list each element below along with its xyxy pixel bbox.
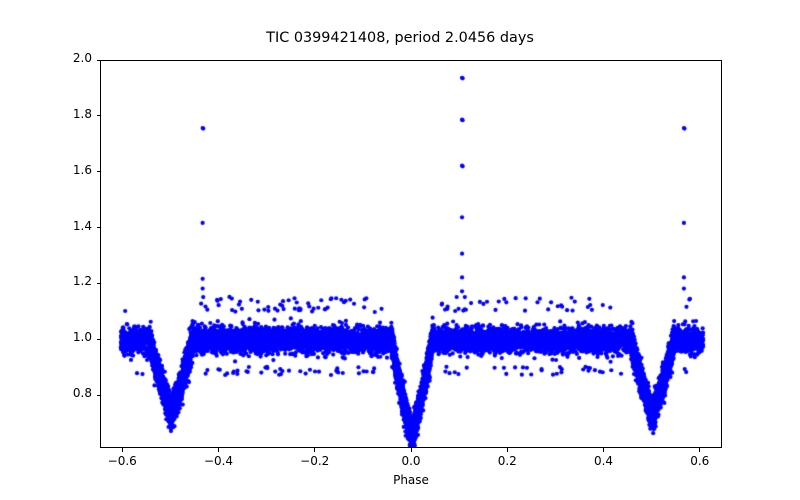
y-tick-label: 1.4 <box>52 219 92 233</box>
scatter-points-layer <box>101 61 722 448</box>
y-tick-label: 0.8 <box>52 386 92 400</box>
x-tick-mark <box>411 448 412 452</box>
x-tick-mark <box>122 448 123 452</box>
x-tick-label: −0.4 <box>178 454 258 468</box>
y-tick-label: 2.0 <box>52 51 92 65</box>
plot-title: TIC 0399421408, period 2.0456 days <box>0 30 800 46</box>
x-axis-label: Phase <box>100 473 722 487</box>
y-tick-mark <box>97 395 101 396</box>
x-tick-mark <box>699 448 700 452</box>
y-tick-mark <box>97 339 101 340</box>
y-tick-mark <box>97 171 101 172</box>
x-tick-mark <box>507 448 508 452</box>
plot-axes <box>100 60 722 448</box>
x-tick-label: 0.6 <box>660 454 740 468</box>
x-tick-mark <box>314 448 315 452</box>
y-tick-mark <box>97 227 101 228</box>
y-tick-label: 1.8 <box>52 107 92 121</box>
x-tick-label: −0.6 <box>82 454 162 468</box>
y-tick-mark <box>97 115 101 116</box>
x-tick-label: 0.4 <box>564 454 644 468</box>
x-tick-label: −0.2 <box>275 454 355 468</box>
x-tick-mark <box>603 448 604 452</box>
x-tick-label: 0.2 <box>467 454 547 468</box>
y-tick-mark <box>97 60 101 61</box>
y-tick-label: 1.0 <box>52 330 92 344</box>
x-tick-mark <box>218 448 219 452</box>
y-tick-label: 1.2 <box>52 274 92 288</box>
y-tick-label: 1.6 <box>52 163 92 177</box>
matplotlib-figure: TIC 0399421408, period 2.0456 days Norma… <box>0 0 800 500</box>
y-tick-mark <box>97 283 101 284</box>
x-tick-label: 0.0 <box>371 454 451 468</box>
